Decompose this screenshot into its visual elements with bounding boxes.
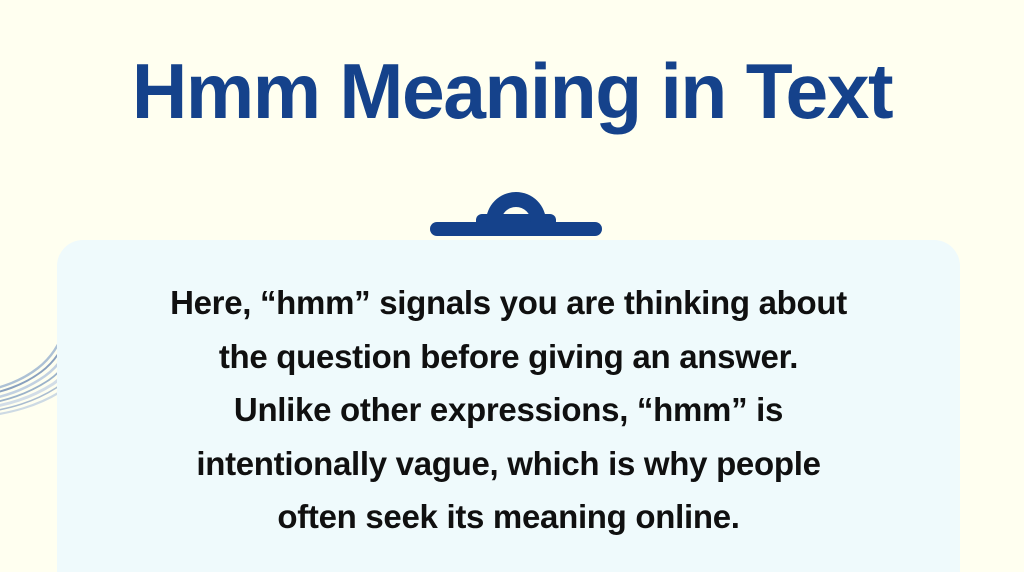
page-title: Hmm Meaning in Text — [8, 52, 1017, 130]
body-paragraph: Here, “hmm” signals you are thinking abo… — [57, 276, 960, 544]
content-card: Here, “hmm” signals you are thinking abo… — [57, 240, 960, 572]
paragraph-line: intentionally vague, which is why people — [57, 437, 960, 491]
paragraph-line: Unlike other expressions, “hmm” is — [57, 383, 960, 437]
arch-ornament-icon — [430, 192, 602, 236]
paragraph-line: Here, “hmm” signals you are thinking abo… — [57, 276, 960, 330]
paragraph-line: often seek its meaning online. — [57, 490, 960, 544]
paragraph-line: the question before giving an answer. — [57, 330, 960, 384]
infographic-slide: Hmm Meaning in Text Her — [0, 0, 1024, 572]
